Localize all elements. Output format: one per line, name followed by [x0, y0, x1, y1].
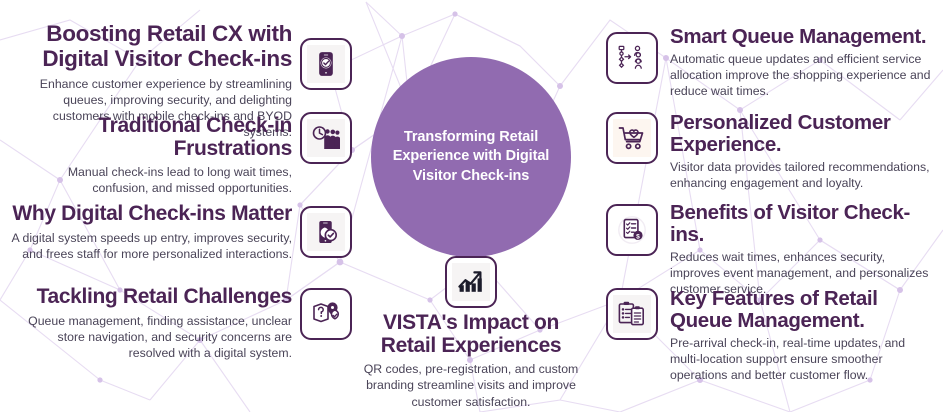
heading: Boosting Retail CX with Digital Visitor … [10, 22, 292, 72]
body-text: Queue management, finding assistance, un… [8, 313, 292, 361]
mobile-shield-check-icon [307, 213, 345, 251]
icon-box-mobile-shield-check[interactable] [300, 206, 352, 258]
heading: Benefits of Visitor Check-ins. [670, 202, 935, 246]
body-text: A digital system speeds up entry, improv… [10, 230, 292, 262]
checklist-dollar-icon: $ [613, 211, 651, 249]
icon-box-checklist-dollar[interactable]: $ [606, 204, 658, 256]
block-smart-queue-management: Smart Queue Management. Automatic queue … [670, 26, 935, 99]
clock-queue-icon [307, 119, 345, 157]
icon-box-clipboard-list[interactable] [606, 288, 658, 340]
svg-text:$: $ [636, 234, 640, 241]
body-text: Visitor data provides tailored recommend… [670, 159, 938, 191]
cart-heart-icon [613, 119, 651, 157]
map-question-pin-icon [307, 295, 345, 333]
center-title: Transforming Retail Experience with Digi… [371, 128, 571, 187]
body-text: Manual check-ins lead to long wait times… [10, 164, 292, 196]
icon-box-cart-heart[interactable] [606, 112, 658, 164]
clipboard-list-icon [613, 295, 651, 333]
body-text: Pre-arrival check-in, real-time updates,… [670, 335, 938, 383]
icon-box-growth-chart[interactable] [445, 256, 497, 308]
heading: Key Features of Retail Queue Management. [670, 288, 938, 332]
block-why-digital-check-ins-matter: Why Digital Check-ins Matter A digital s… [10, 203, 292, 262]
center-hub: Transforming Retail Experience with Digi… [371, 57, 571, 257]
heading: Smart Queue Management. [670, 26, 935, 48]
body-text: Automatic queue updates and efficient se… [670, 51, 935, 99]
growth-chart-icon [452, 263, 490, 301]
heading: Why Digital Check-ins Matter [10, 203, 292, 226]
heading: Tackling Retail Challenges [8, 286, 292, 309]
block-personalized-customer-experience: Personalized Customer Experience. Visito… [670, 112, 938, 191]
infographic-canvas: Transforming Retail Experience with Digi… [0, 0, 943, 412]
block-benefits-of-visitor-check-ins: Benefits of Visitor Check-ins. Reduces w… [670, 202, 935, 298]
heading: VISTA's Impact on Retail Experiences [356, 312, 586, 357]
icon-box-map-question-pin[interactable] [300, 288, 352, 340]
heading: Traditional Check-in Frustrations [10, 115, 292, 160]
block-tackling-retail-challenges: Tackling Retail Challenges Queue managem… [8, 286, 292, 361]
mobile-check-icon [307, 45, 345, 83]
heading: Personalized Customer Experience. [670, 112, 938, 156]
icon-box-clock-queue[interactable] [300, 112, 352, 164]
queue-flow-icon [613, 39, 651, 77]
icon-box-mobile-check[interactable] [300, 38, 352, 90]
block-vista-impact: VISTA's Impact on Retail Experiences QR … [356, 312, 586, 410]
block-key-features-of-retail-queue-management: Key Features of Retail Queue Management.… [670, 288, 938, 384]
block-traditional-check-in-frustrations: Traditional Check-in Frustrations Manual… [10, 115, 292, 197]
icon-box-queue-flow[interactable] [606, 32, 658, 84]
body-text: QR codes, pre-registration, and custom b… [356, 361, 586, 409]
